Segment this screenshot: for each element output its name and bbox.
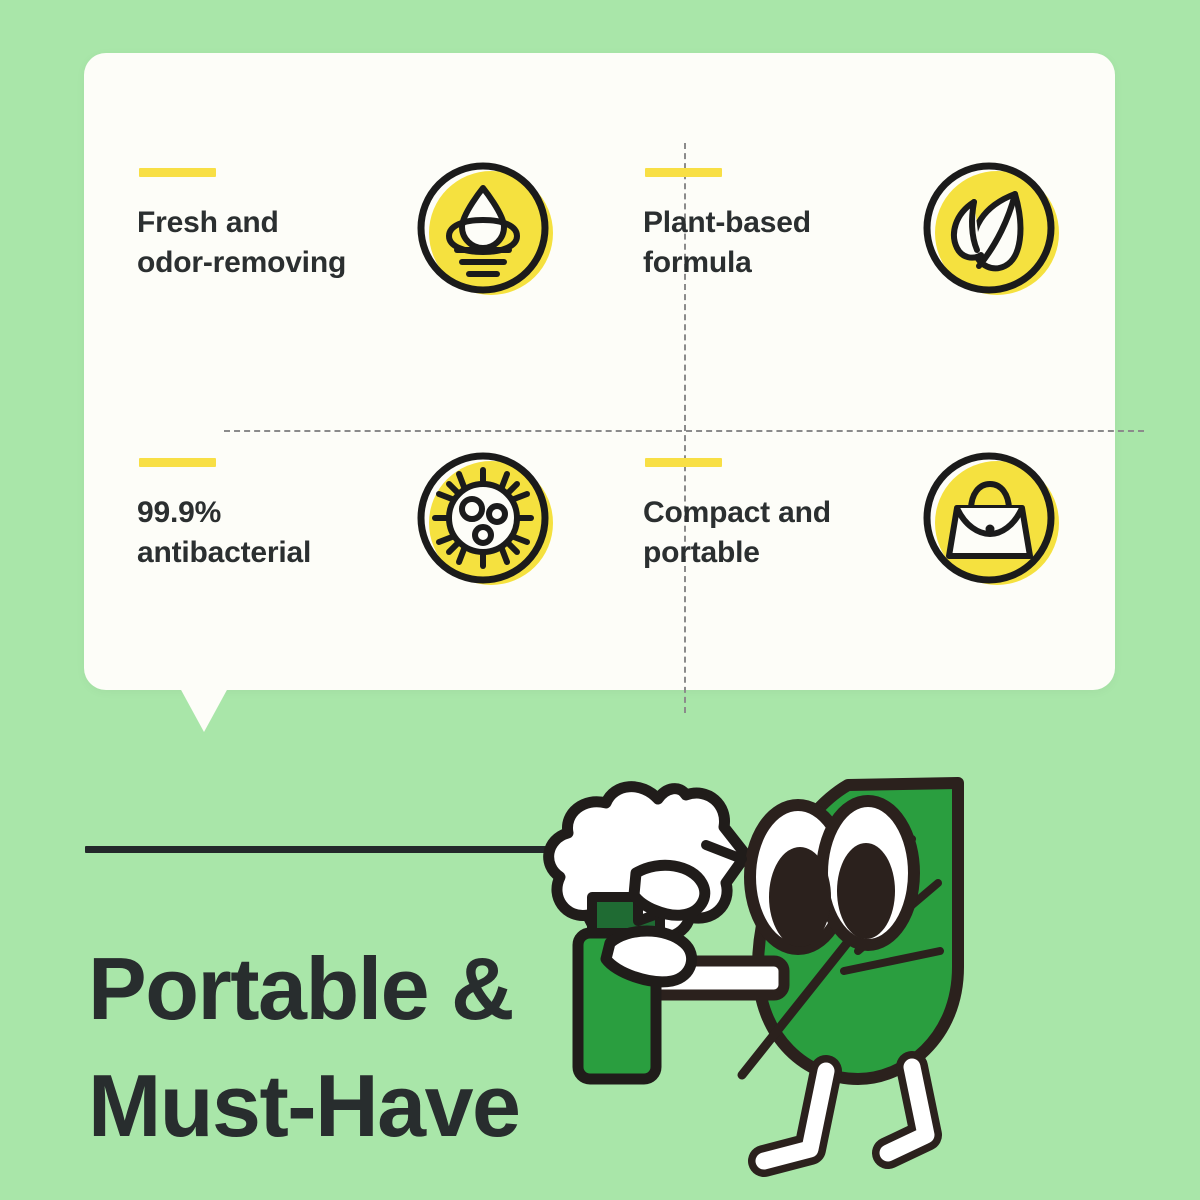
accent-dash	[139, 168, 216, 177]
feature-cell-compact: Compact and portable	[626, 400, 1096, 680]
bacteria-germ-icon	[411, 446, 561, 596]
handbag-icon	[917, 446, 1067, 596]
feature-cell-plant-based: Plant-based formula	[626, 110, 1096, 390]
feature-label: Plant-based formula	[643, 203, 913, 282]
accent-dash	[645, 168, 722, 177]
eyes	[750, 801, 914, 949]
water-drop-ripple-icon	[411, 156, 561, 306]
accent-dash	[139, 458, 216, 467]
poster-canvas: Fresh and odor-removing Plant-based form…	[0, 0, 1200, 1200]
feature-label: Compact and portable	[643, 493, 913, 572]
speech-bubble-tail	[180, 688, 228, 732]
feature-label: Fresh and odor-removing	[137, 203, 407, 282]
feature-label: 99.9% antibacterial	[137, 493, 407, 572]
feature-cell-antibacterial: 99.9% antibacterial	[120, 400, 590, 680]
feature-cell-fresh: Fresh and odor-removing	[120, 110, 590, 390]
accent-dash	[645, 458, 722, 467]
two-leaves-icon	[917, 156, 1067, 306]
leaf-character-spraying	[510, 755, 1170, 1185]
